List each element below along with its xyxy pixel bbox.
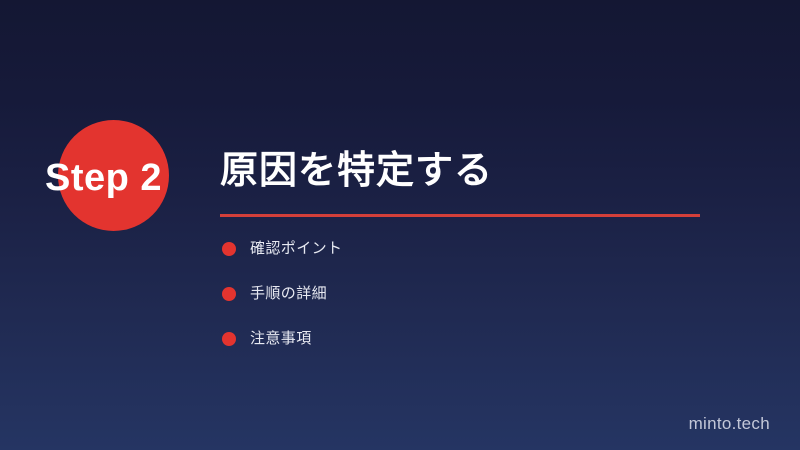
bullet-dot-icon bbox=[222, 332, 236, 346]
slide-title: 原因を特定する bbox=[220, 146, 493, 196]
bullet-dot-icon bbox=[222, 242, 236, 256]
presentation-slide: Step 2 原因を特定する 確認ポイント 手順の詳細 注意事項 minto.t… bbox=[0, 0, 800, 450]
list-item: 注意事項 bbox=[222, 331, 342, 347]
title-divider bbox=[220, 214, 700, 217]
footer-brand: minto.tech bbox=[689, 414, 770, 434]
list-item: 確認ポイント bbox=[222, 241, 342, 257]
title-block: 原因を特定する bbox=[220, 146, 493, 196]
step-number-label: Step 2 bbox=[45, 155, 205, 201]
bullet-dot-icon bbox=[222, 287, 236, 301]
bullet-item-label: 手順の詳細 bbox=[250, 286, 327, 302]
bullet-item-label: 確認ポイント bbox=[250, 241, 342, 257]
step-badge: Step 2 bbox=[45, 120, 205, 232]
list-item: 手順の詳細 bbox=[222, 286, 342, 302]
bullet-item-label: 注意事項 bbox=[250, 331, 312, 347]
bullet-list: 確認ポイント 手順の詳細 注意事項 bbox=[222, 241, 342, 376]
